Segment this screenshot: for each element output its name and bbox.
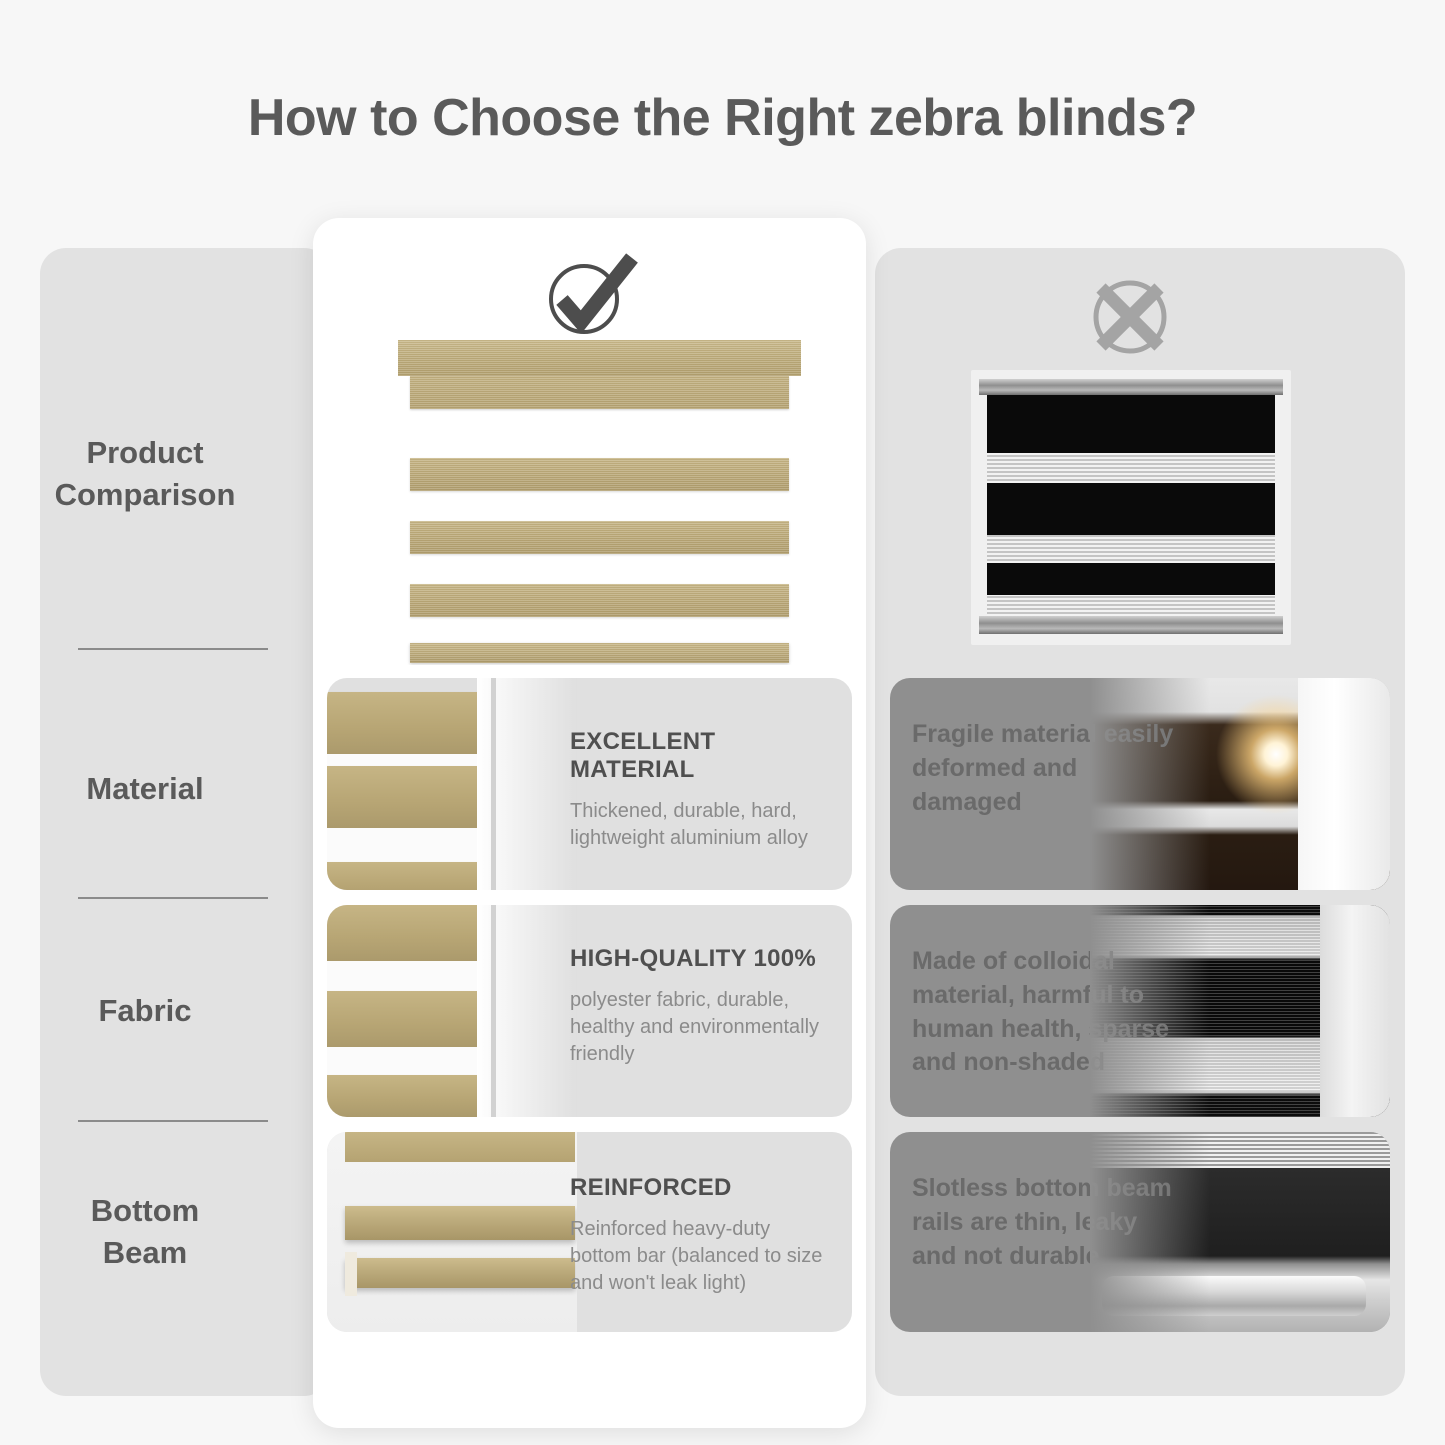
blind-headrail [979,379,1283,395]
beige-zebra-blind-image [398,340,801,665]
blind-headrail-lip [410,376,789,409]
sidebar-label-text: ProductComparison [55,435,236,512]
blind-opaque-band [987,395,1275,453]
black-zebra-blind-image [971,370,1291,645]
feature-body: Reinforced heavy-duty bottom bar (balanc… [570,1216,835,1296]
sparse-striped-blind-photo [1090,905,1390,1117]
sidebar-label-product-comparison: ProductComparison [0,432,290,515]
feature-card-fabric: HIGH-QUALITY 100% polyester fabric, dura… [327,905,852,1117]
sun-leak-window-photo [1090,678,1390,890]
blind-bottom-bar [410,643,789,663]
feature-body: polyester fabric, durable, healthy and e… [570,987,835,1067]
blind-slat [410,584,789,617]
sidebar-divider [78,648,268,650]
blind-headrail [398,340,801,376]
beige-blind-window-photo [327,678,577,890]
feature-title: REINFORCED [570,1174,835,1202]
blind-sheer-band [987,595,1275,616]
feature-body: Thickened, durable, hard, lightweight al… [570,798,835,852]
feature-title: EXCELLENT MATERIAL [570,728,835,784]
feature-card-material: EXCELLENT MATERIAL Thickened, durable, h… [327,678,852,890]
beige-bottom-beam-photo [327,1132,577,1332]
page-title: How to Choose the Right zebra blinds? [0,88,1445,148]
sidebar-divider [78,897,268,899]
blind-sheer-band [987,453,1275,483]
sidebar-label-bottom-beam: BottomBeam [0,1190,290,1273]
blind-sheer-band [987,535,1275,563]
cross-circle-icon [1085,272,1175,362]
bad-feature-card-material: Fragile material easily deformed and dam… [890,678,1390,890]
beige-blind-fabric-photo [327,905,577,1117]
blind-slat [410,458,789,491]
feature-card-bottom-beam: REINFORCED Reinforced heavy-duty bottom … [327,1132,852,1332]
bad-feature-card-fabric: Made of colloidal material, harmful to h… [890,905,1390,1117]
blind-slat [410,521,789,554]
bad-feature-card-bottom-beam: Slotless bottom beam rails are thin, lea… [890,1132,1390,1332]
blind-opaque-band [987,563,1275,595]
feature-title: HIGH-QUALITY 100% [570,945,835,973]
slotless-bottom-rail-photo [1090,1132,1390,1332]
check-circle-icon [540,252,640,338]
sidebar-divider [78,1120,268,1122]
blind-bottom-rail [979,616,1283,634]
blind-opaque-band [987,483,1275,535]
sidebar-label-fabric: Fabric [0,990,290,1032]
sidebar-label-text: BottomBeam [91,1193,199,1270]
sidebar-label-material: Material [0,768,290,810]
